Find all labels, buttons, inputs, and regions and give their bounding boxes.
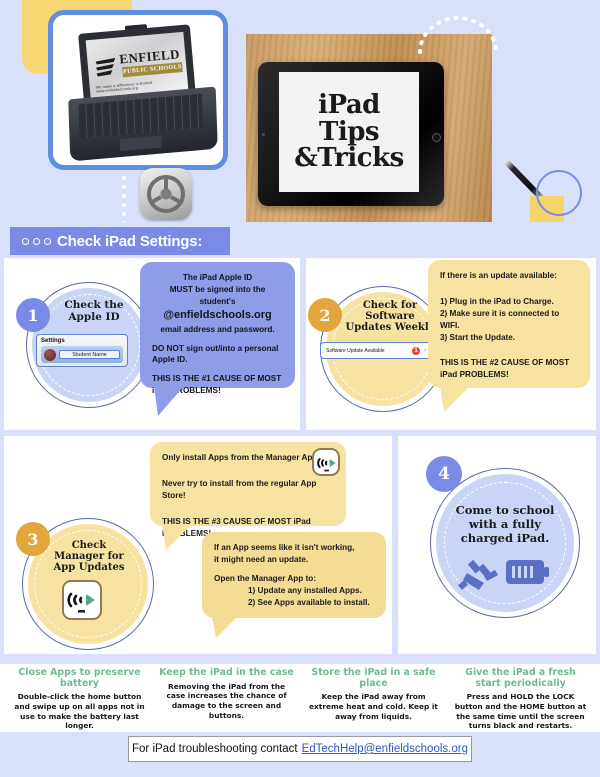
ipad-screen: iPad Tips &Tricks bbox=[279, 72, 419, 192]
step-4-title: Come to school with a fully charged iPad… bbox=[440, 504, 570, 545]
step-4-title-line-3: charged iPad. bbox=[461, 531, 549, 545]
tips-section: Close Apps to preserve battery Double-cl… bbox=[0, 664, 600, 732]
ipad-home-button-icon bbox=[432, 133, 441, 142]
poster-title: iPad Tips &Tricks bbox=[279, 72, 419, 192]
step-3-bubble2-item-1: 1) Update any installed Apps. bbox=[214, 585, 362, 597]
manager-app-icon[interactable] bbox=[62, 580, 102, 620]
step-3-bubble-line-1: Only install Apps from the Manager App! bbox=[162, 453, 320, 462]
tip-3-body: Keep the iPad away from extreme heat and… bbox=[305, 692, 442, 721]
step-1-bubble-text: The iPad Apple ID MUST be signed into th… bbox=[152, 272, 283, 397]
step-3-bubble2-line-2: it might need an update. bbox=[214, 555, 308, 564]
step-2-number: 2 bbox=[308, 298, 342, 332]
contact-box: For iPad troubleshooting contact EdTechH… bbox=[128, 736, 472, 762]
chevron-right-icon: › bbox=[424, 348, 426, 354]
step-2-title: Check for Software Updates Weekly bbox=[340, 300, 440, 334]
step-3-bubble-top-tail bbox=[162, 524, 196, 550]
laptop-photo: ENFIELD PUBLIC SCHOOLS We make a differe… bbox=[53, 15, 223, 165]
step-4-title-line-2: with a fully bbox=[469, 517, 541, 531]
step-2-title-line-1: Check for bbox=[363, 300, 417, 311]
battery-icon bbox=[506, 558, 550, 586]
step-1-bubble-line-2: MUST be signed into the student's bbox=[152, 284, 283, 308]
step-4-number: 4 bbox=[426, 456, 462, 492]
tip-1-heading: Close Apps to preserve battery bbox=[11, 668, 148, 689]
tip-2-body: Removing the iPad from the case increase… bbox=[158, 682, 295, 721]
step-1-bubble-line-3: email address and password. bbox=[152, 324, 283, 336]
step-1-bubble-email: @enfieldschools.org bbox=[152, 308, 283, 324]
avatar bbox=[44, 349, 56, 361]
contact-prefix: For iPad troubleshooting contact bbox=[132, 743, 298, 755]
power-plug-icon bbox=[458, 556, 500, 592]
step-1-speech-bubble: The iPad Apple ID MUST be signed into th… bbox=[140, 262, 295, 388]
tip-item: Store the iPad in a safe place Keep the … bbox=[300, 668, 447, 732]
step-1-title: Check the Apple ID bbox=[50, 300, 138, 324]
step-1-bubble-line-1: The iPad Apple ID bbox=[152, 272, 283, 284]
settings-mock-row[interactable]: Student Name bbox=[41, 346, 123, 363]
step-2-bubble-item-2: 2) Make sure it is connected to WIFI. bbox=[440, 309, 559, 330]
step-3-title-line-1: Check bbox=[72, 540, 107, 551]
laptop-keyboard-base bbox=[68, 87, 218, 162]
step-4-panel: 4 Come to school with a fully charged iP… bbox=[398, 436, 596, 654]
contact-email-link[interactable]: EdTechHelp@enfieldschools.org bbox=[302, 743, 468, 755]
footer-strip bbox=[0, 762, 600, 777]
step-3-panel: 3 Check Manager for App Updates bbox=[4, 436, 392, 654]
banner-label: Check iPad Settings: bbox=[57, 233, 202, 250]
steps-row-1: 1 Check the Apple ID Settings Student Na… bbox=[0, 258, 600, 430]
step-1-bubble-tail bbox=[154, 386, 188, 416]
tip-3-heading: Store the iPad in a safe place bbox=[305, 668, 442, 689]
enfield-wing-logo-icon bbox=[93, 54, 121, 84]
step-3-speech-bubble-bottom: If an App seems like it isn't working, i… bbox=[202, 532, 386, 618]
dotted-arc-decoration bbox=[418, 14, 498, 54]
step-4-badge-group: 4 Come to school with a fully charged iP… bbox=[414, 456, 584, 636]
step-2-panel: 2 Check for Software Updates Weekly Soft… bbox=[306, 258, 596, 430]
tip-item: Keep the iPad in the case Removing the i… bbox=[153, 668, 300, 732]
step-3-badge-group: 3 Check Manager for App Updates bbox=[12, 514, 152, 654]
settings-mock-row-label: Student Name bbox=[59, 350, 120, 359]
step-2-bubble-item-1: 1) Plug in the iPad to Charge. bbox=[440, 297, 554, 306]
poster-title-line-3: &Tricks bbox=[294, 145, 404, 172]
step-1-title-line-2: Apple ID bbox=[68, 311, 119, 323]
step-2-badge-group: 2 Check for Software Updates Weekly Soft… bbox=[308, 280, 438, 420]
step-3-bubble-line-2: Never try to install from the regular Ap… bbox=[162, 479, 316, 500]
laptop-photo-card: ENFIELD PUBLIC SCHOOLS We make a differe… bbox=[48, 10, 228, 170]
step-2-bubble-lead: If there is an update available: bbox=[440, 271, 557, 280]
step-1-title-line-1: Check the bbox=[64, 299, 123, 311]
steps-row-2: 3 Check Manager for App Updates bbox=[0, 436, 600, 654]
laptop-keys bbox=[78, 94, 203, 139]
step-3-bubble2-line-1: If an App seems like it isn't working, bbox=[214, 543, 354, 552]
step-2-title-line-3: Updates Weekly bbox=[346, 322, 435, 333]
step-1-number: 1 bbox=[16, 298, 50, 332]
software-update-label: Software Update Available bbox=[326, 348, 408, 354]
step-3-bubble2-line-3: Open the Manager App to: bbox=[214, 574, 316, 583]
tip-4-body: Press and HOLD the LOCK button and the H… bbox=[452, 692, 589, 731]
banner-dots-icon bbox=[22, 238, 51, 245]
hero-section: iPad Tips &Tricks ENFIELD PUBLIC SCHOOLS bbox=[0, 0, 600, 222]
circle-outline-decoration bbox=[536, 170, 582, 216]
tip-1-body: Double-click the home button and swipe u… bbox=[11, 692, 148, 731]
step-3-bubble-bottom-tail bbox=[212, 616, 242, 638]
tip-4-heading: Give the iPad a fresh start periodically bbox=[452, 668, 589, 689]
settings-mock-title: Settings bbox=[41, 338, 123, 344]
section-banner: Check iPad Settings: bbox=[10, 227, 230, 255]
tip-item: Give the iPad a fresh start periodically… bbox=[447, 668, 594, 732]
step-3-speech-bubble-top: Only install Apps from the Manager App! … bbox=[150, 442, 346, 526]
step-2-bubble-tail bbox=[440, 386, 474, 412]
ipad-camera-icon bbox=[262, 133, 265, 136]
step-1-bubble-para-1: DO NOT sign out/into a personal Apple ID… bbox=[152, 344, 278, 365]
step-2-title-line-2: Software bbox=[365, 311, 415, 322]
step-3-bubble-bottom-text: If an App seems like it isn't working, i… bbox=[214, 542, 374, 608]
tip-item: Close Apps to preserve battery Double-cl… bbox=[6, 668, 153, 732]
poster-title-line-1: iPad bbox=[318, 92, 380, 119]
dotted-connector bbox=[122, 176, 126, 222]
step-2-bubble-text: If there is an update available: 1) Plug… bbox=[440, 270, 578, 381]
laptop-trackpad bbox=[120, 135, 162, 151]
poster-title-line-2: Tips bbox=[319, 119, 379, 146]
step-1-panel: 1 Check the Apple ID Settings Student Na… bbox=[4, 258, 300, 430]
infographic-poster: iPad Tips &Tricks ENFIELD PUBLIC SCHOOLS bbox=[0, 0, 600, 777]
step-3-title: Check Manager for App Updates bbox=[34, 540, 144, 574]
step-2-bubble-closing: THIS IS THE #2 CAUSE OF MOST iPad PROBLE… bbox=[440, 358, 569, 379]
step-1-badge-group: 1 Check the Apple ID Settings Student Na… bbox=[14, 276, 144, 416]
update-badge-count: 1 bbox=[412, 347, 420, 355]
step-2-bubble-item-3: 3) Start the Update. bbox=[440, 333, 515, 342]
tip-2-heading: Keep the iPad in the case bbox=[158, 668, 295, 679]
step-3-title-line-3: App Updates bbox=[53, 562, 124, 573]
step-3-title-line-2: Manager for bbox=[54, 551, 124, 562]
settings-gear-icon bbox=[140, 168, 192, 220]
manager-app-icon-inline[interactable] bbox=[312, 448, 340, 476]
software-update-mock-row[interactable]: Software Update Available 1 › bbox=[320, 342, 432, 359]
step-3-bubble2-item-2: 2) See Apps available to install. bbox=[214, 597, 370, 609]
step-2-speech-bubble: If there is an update available: 1) Plug… bbox=[428, 260, 590, 388]
step-4-title-line-1: Come to school bbox=[456, 503, 555, 517]
settings-mock-panel[interactable]: Settings Student Name bbox=[36, 334, 128, 367]
